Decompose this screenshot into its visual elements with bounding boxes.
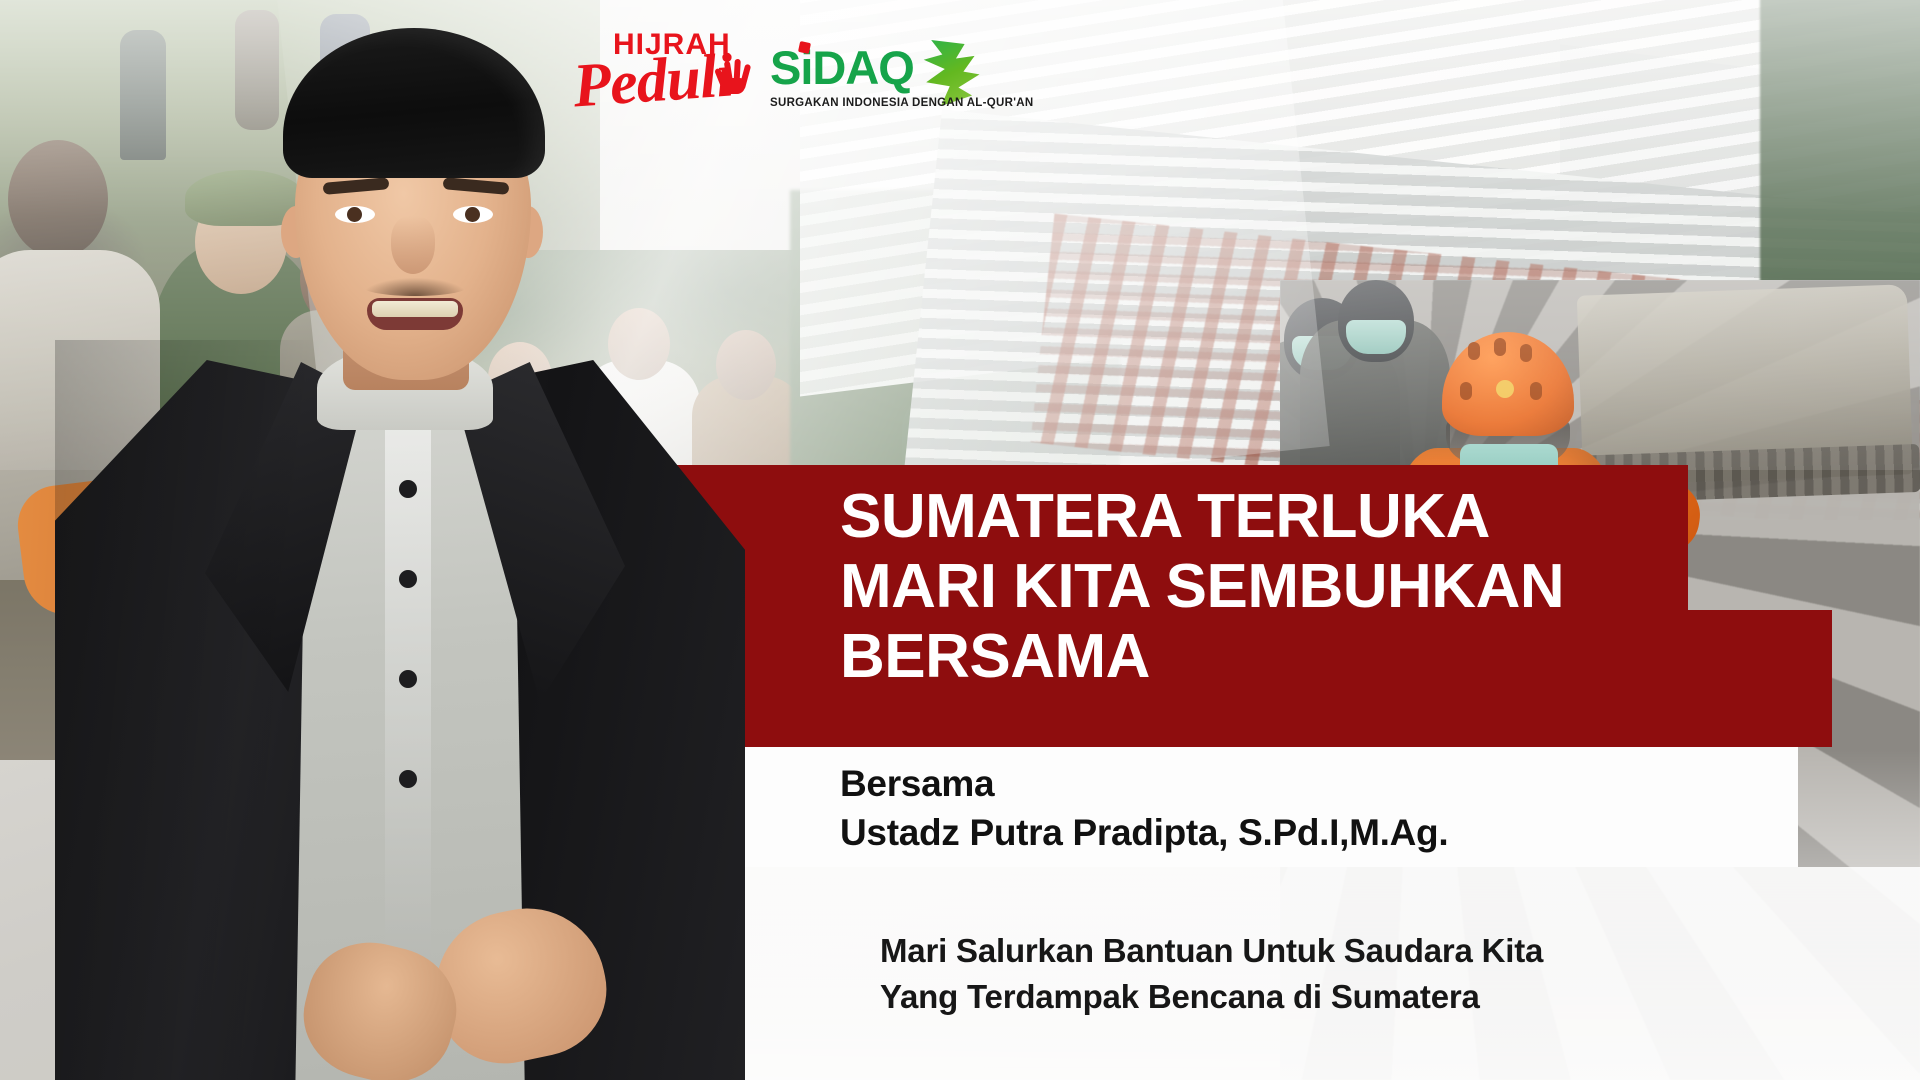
- presenter-eye-left: [335, 206, 375, 223]
- sidaq-logo[interactable]: SiDAQ SURGAKAN INDONESIA DENGAN AL-QUR'A…: [770, 44, 1005, 124]
- headline-text: SUMATERA TERLUKA MARI KITA SEMBUHKAN BER…: [840, 482, 1840, 692]
- sidaq-wordmark: SiDAQ: [770, 44, 914, 91]
- shirt-button: [399, 770, 417, 788]
- palm-tree: [1760, 0, 1920, 290]
- presenter-cutout: [55, 10, 755, 1080]
- sidaq-i-dot-icon: [798, 41, 811, 54]
- headline-line-1: SUMATERA TERLUKA: [840, 482, 1840, 552]
- speaker-text: Bersama Ustadz Putra Pradipta, S.Pd.I,M.…: [840, 760, 1840, 858]
- caption-line-1: Mari Salurkan Bantuan Untuk Saudara Kita: [880, 928, 1890, 974]
- speaker-prefix: Bersama: [840, 760, 1840, 809]
- poster-canvas: SAR BASARNAS HIJRAH Peduli SiDAQ SU: [0, 0, 1920, 1080]
- presenter-eye-right: [453, 206, 493, 223]
- headline-line-3: BERSAMA: [840, 622, 1840, 692]
- headline-line-2: MARI KITA SEMBUHKAN: [840, 552, 1840, 622]
- sidaq-tagline: SURGAKAN INDONESIA DENGAN AL-QUR'AN: [770, 97, 1033, 109]
- peci-cap: [283, 28, 545, 178]
- shirt-button: [399, 480, 417, 498]
- caption-text: Mari Salurkan Bantuan Untuk Saudara Kita…: [880, 928, 1890, 1019]
- presenter-mouth: [367, 298, 463, 330]
- presenter-mustache: [363, 278, 467, 296]
- presenter-nose: [391, 216, 435, 274]
- shirt-button: [399, 670, 417, 688]
- caption-line-2: Yang Terdampak Bencana di Sumatera: [880, 974, 1890, 1020]
- shirt-button: [399, 570, 417, 588]
- speaker-name: Ustadz Putra Pradipta, S.Pd.I,M.Ag.: [840, 809, 1840, 858]
